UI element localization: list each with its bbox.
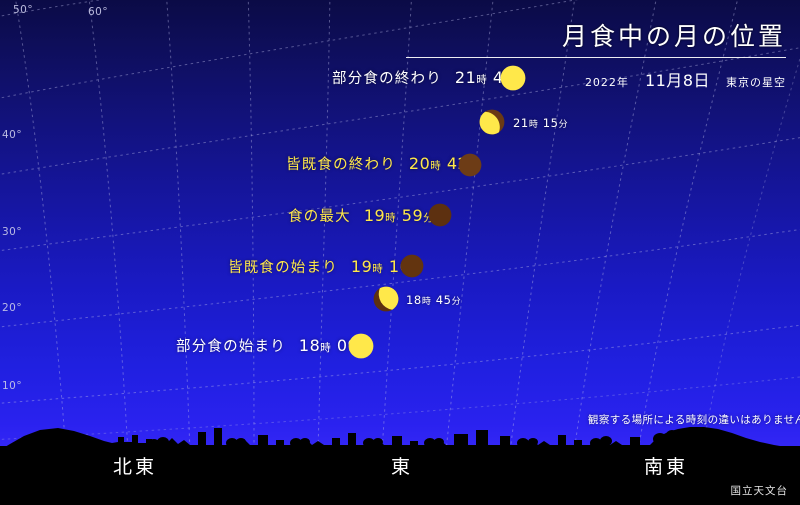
altitude-label-60: 60°: [88, 6, 108, 18]
title-divider: [406, 57, 786, 58]
event-label-totality-end: 皆既食の終わり20時 42分: [286, 153, 479, 174]
observation-note: 観察する場所による時刻の違いはありません: [588, 412, 800, 427]
moon-marker-1809-full: [348, 333, 374, 359]
altitude-label-30: 30°: [2, 226, 22, 238]
moon-marker-2042-total: [458, 153, 482, 177]
event-name-partial-start: 部分食の始まり: [176, 339, 286, 355]
moon-marker-1916-total: [400, 254, 424, 278]
event-label-totality-start: 皆既食の始まり19時 16分: [228, 256, 421, 277]
direction-label-southeast: 南東: [626, 452, 706, 479]
subtitle-day: 8日: [683, 71, 710, 90]
event-name-partial-end: 部分食の終わり: [332, 71, 442, 87]
subtitle-location: 東京の星空: [726, 76, 786, 89]
moon-marker-1845-partial: [373, 286, 399, 312]
direction-label-east: 東: [362, 452, 442, 479]
altitude-label-50: 50°: [13, 4, 33, 16]
subtitle-month: 11月: [645, 71, 683, 90]
direction-label-northeast: 北東: [95, 452, 175, 479]
event-label-partial-end: 部分食の終わり21時 49分: [332, 67, 525, 88]
event-name-maximum: 食の最大: [288, 209, 351, 225]
eclipse-sky-chart: .gl { fill:none; stroke:#b9b9e8; stroke-…: [0, 0, 800, 505]
altitude-label-20: 20°: [2, 302, 22, 314]
event-label-partial-start: 部分食の始まり18時 09分: [176, 335, 369, 356]
credit-label: 国立天文台: [731, 483, 789, 498]
moon-marker-2149-full: [500, 65, 526, 91]
page-title: 月食中の月の位置: [386, 22, 786, 52]
event-name-totality-start: 皆既食の始まり: [228, 260, 338, 276]
moon-marker-1959-total-deep: [428, 203, 452, 227]
subtitle-year: 2022年: [585, 76, 629, 89]
event-time-maximum: 19時 59分: [364, 206, 434, 225]
minor-time-1845: 18時 45分: [406, 293, 461, 307]
moon-marker-2115-partial: [479, 109, 505, 135]
altitude-label-10: 10°: [2, 380, 22, 392]
event-label-maximum: 食の最大19時 59分: [288, 205, 434, 226]
event-name-totality-end: 皆既食の終わり: [286, 157, 396, 173]
minor-time-2115: 21時 15分: [513, 116, 568, 130]
altitude-label-40: 40°: [2, 129, 22, 141]
